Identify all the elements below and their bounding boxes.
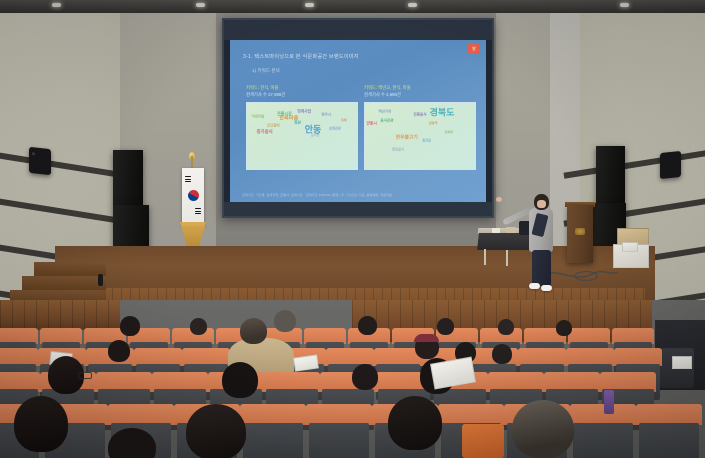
ceiling — [0, 0, 705, 14]
slide-title: 3-1. 텍스트마이닝으로 본 식문화공간 브랜드이미지 — [243, 53, 359, 60]
presenter-shoe — [529, 283, 540, 289]
audience-head-curly — [222, 362, 258, 398]
audience-head-foreground — [388, 396, 442, 450]
right-keyword-label: 키워드: 백년교, 한식, 마을 — [364, 84, 411, 91]
audience-head — [352, 364, 378, 390]
slide-footnote: 검색기간: 기간별, 검색지역, 포털사, 검색사간 · 검색구간 1998.0… — [242, 192, 392, 197]
seat[interactable] — [306, 404, 372, 458]
wordcloud-word: 한우불고기 — [396, 134, 418, 141]
wordcloud-word: 백년가게 — [379, 108, 391, 113]
ceiling-light — [305, 3, 314, 7]
stage-floor-mic — [98, 274, 103, 286]
floor-speaker-left-upper — [113, 150, 143, 206]
ceiling-light — [196, 3, 205, 7]
taeguk-symbol-icon — [188, 190, 199, 201]
wordcloud-word: 축제 — [341, 118, 347, 122]
wall-slat — [563, 149, 705, 178]
eyeglasses-icon — [78, 372, 92, 379]
audience-head-gray — [274, 310, 296, 332]
wordcloud-word: 안동시 — [366, 122, 376, 127]
flag-cloth — [182, 168, 204, 226]
slide-badge: 발 — [468, 43, 480, 54]
table-leg — [506, 250, 508, 266]
wordcloud-left: 안동한옥마을종가음식전통시장경주시헛제사밥간고등어찜닭문화관광하회마을음식점축제 — [246, 102, 358, 170]
audience-head — [120, 316, 140, 336]
podium-emblem-icon — [575, 228, 585, 235]
hat-band — [414, 334, 439, 342]
seat[interactable] — [240, 404, 306, 458]
wordcloud-right: 경북도한우불고기안동시음식관광백년가게전통음식종갓집향토음식문화재관광객 — [364, 102, 476, 170]
presenter-hand — [496, 197, 502, 202]
right-keyword-count: 검색기사 수 4,686건 — [364, 91, 411, 98]
presenter-pointing — [512, 188, 570, 296]
presentation-slide: 발 3-1. 텍스트마이닝으로 본 식문화공간 브랜드이미지 1) 키워드 분석… — [230, 40, 486, 202]
wordcloud-word: 전통시장 — [277, 111, 292, 117]
audience-head — [498, 319, 514, 335]
audience-head — [556, 320, 572, 336]
audience-head — [437, 318, 454, 335]
table-leg — [484, 249, 486, 265]
wordcloud-word: 문화재 — [444, 130, 452, 134]
korean-flag-taegukgi — [176, 152, 210, 260]
audience-head — [358, 316, 377, 335]
audience-head-foreground — [14, 396, 68, 452]
audience-head — [190, 318, 207, 335]
flag-fringe — [180, 222, 206, 248]
auditorium-scene: 발 3-1. 텍스트마이닝으로 본 식문화공간 브랜드이미지 1) 키워드 분석… — [0, 0, 705, 458]
table-item-paper — [492, 228, 500, 233]
rear-wood-panel-left — [0, 300, 120, 330]
left-keyword-count: 검색기사 수 27,986건 — [246, 91, 285, 98]
box-paper-sheet — [622, 242, 638, 252]
seat[interactable] — [570, 404, 636, 458]
wordcloud-word: 향토음식 — [392, 147, 404, 152]
wordcloud-word: 전통음식 — [413, 112, 426, 117]
projection-screen[interactable]: 발 3-1. 텍스트마이닝으로 본 식문화공간 브랜드이미지 1) 키워드 분석… — [222, 18, 494, 218]
slide-subtitle: 1) 키워드 분석 — [252, 68, 280, 74]
wordcloud-word: 헛제사밥 — [297, 110, 311, 115]
wordcloud-word: 종갓집 — [422, 137, 431, 142]
audience-head-foreground-gray — [512, 400, 574, 458]
ceiling-light — [52, 3, 61, 7]
side-desk-paper — [672, 356, 692, 369]
right-keyword-block: 키워드: 백년교, 한식, 마을 검색기사 수 4,686건 — [364, 84, 411, 98]
screen-letterbox-bottom — [224, 202, 492, 216]
seat[interactable] — [636, 404, 702, 458]
wordcloud-word: 종가음식 — [257, 129, 273, 135]
wordcloud-word: 문화관광 — [329, 126, 341, 131]
audience-head — [492, 344, 512, 364]
wordcloud-word: 관광객 — [429, 121, 437, 125]
wordcloud-word: 음식관광 — [380, 119, 393, 124]
floor-speaker-right-upper — [596, 146, 625, 204]
left-keyword-label: 키워드: 한식, 마을 — [246, 84, 285, 91]
wordcloud-word: 경주시 — [321, 112, 331, 117]
audience-head — [108, 340, 130, 362]
audience-head-foreground — [186, 404, 246, 458]
ceiling-light — [620, 3, 629, 7]
presenter-legs — [532, 250, 551, 286]
wall-speaker-right — [660, 151, 681, 179]
presenter-face — [537, 200, 546, 208]
purple-item — [604, 390, 614, 414]
ceiling-light — [408, 3, 417, 7]
screen-letterbox-top — [224, 20, 492, 40]
wordcloud-word: 음식점 — [311, 133, 319, 137]
left-keyword-block: 키워드: 한식, 마을 검색기사 수 27,986건 — [246, 84, 285, 98]
wordcloud-word: 경북도 — [430, 106, 455, 119]
wordcloud-word: 하회마을 — [252, 114, 264, 119]
presenter-shoe — [541, 285, 552, 291]
wall-speaker-left — [29, 147, 51, 175]
wordcloud-word: 간고등어 — [267, 123, 279, 128]
orange-bag — [462, 424, 504, 458]
audience-head-balding — [240, 318, 267, 344]
wordcloud-word: 찜닭 — [294, 120, 301, 125]
